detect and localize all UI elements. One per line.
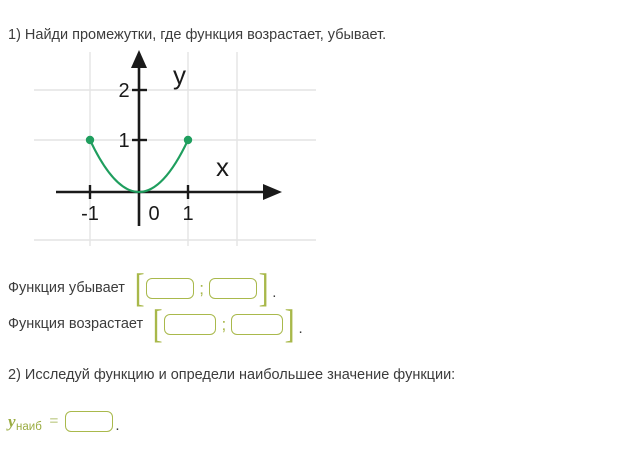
open-bracket: [ — [135, 272, 145, 305]
y-tick-label-2: 2 — [118, 80, 129, 102]
x-tick-label-1: 1 — [182, 203, 193, 225]
ymax-label: yнаиб — [8, 412, 41, 432]
decreasing-to-input[interactable] — [209, 278, 257, 299]
ymax-value-input[interactable] — [65, 411, 113, 432]
y-tick-label-1: 1 — [118, 130, 129, 152]
x-tick-label-neg1: -1 — [81, 203, 99, 225]
equals-sign: = — [49, 413, 58, 431]
interval-separator: ; — [221, 315, 226, 335]
question-1-text: 1) Найди промежутки, где функция возраст… — [8, 26, 386, 44]
close-bracket: ] — [285, 308, 295, 341]
answer-row-decreasing: Функция убывает [ ; ] . — [8, 272, 276, 305]
increasing-to-input[interactable] — [231, 314, 283, 335]
endpoint-right — [184, 136, 192, 144]
answer-row-increasing: Функция возрастает [ ; ] . — [8, 308, 303, 341]
x-axis-label: x — [216, 152, 229, 182]
decreasing-from-input[interactable] — [146, 278, 194, 299]
y-axis-label: y — [173, 60, 186, 90]
endpoint-left — [86, 136, 94, 144]
ymax-variable: y — [8, 412, 16, 432]
increasing-from-input[interactable] — [164, 314, 216, 335]
close-bracket: ] — [259, 272, 269, 305]
answer-row-ymax: yнаиб = . — [8, 411, 120, 432]
decreasing-interval: [ ; ] — [133, 272, 270, 305]
question-2-text: 2) Исследуй функцию и определи наибольше… — [8, 366, 455, 384]
increasing-label: Функция возрастает — [8, 316, 143, 332]
interval-separator: ; — [199, 279, 204, 299]
decreasing-period: . — [272, 284, 276, 301]
ymax-subscript: наиб — [16, 421, 42, 433]
y-axis — [131, 50, 147, 226]
increasing-interval: [ ; ] — [151, 308, 296, 341]
function-graph: -1 0 1 1 2 y x — [30, 48, 320, 248]
exercise-page: 1) Найди промежутки, где функция возраст… — [0, 0, 635, 458]
open-bracket: [ — [153, 308, 163, 341]
x-tick-label-0: 0 — [148, 203, 159, 225]
graph-svg: -1 0 1 1 2 y x — [30, 48, 320, 248]
decreasing-label: Функция убывает — [8, 280, 125, 296]
increasing-period: . — [299, 320, 303, 337]
ymax-period: . — [115, 417, 119, 434]
